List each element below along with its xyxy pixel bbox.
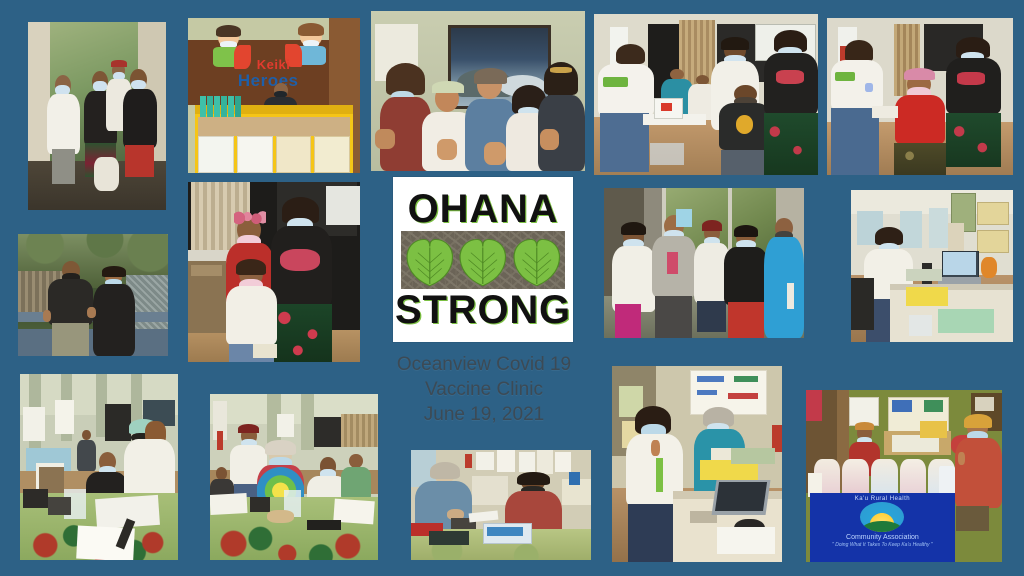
photo-scene <box>612 366 782 562</box>
photo-tiedye-checkin[interactable] <box>210 394 378 560</box>
photo-two-staff-laptop[interactable] <box>612 366 782 562</box>
photo-clinic-vaccination-station[interactable] <box>594 14 818 175</box>
taro-leaf-icon <box>459 237 507 286</box>
photo-scene: Keiki Heroes <box>188 18 360 173</box>
patient <box>894 68 946 175</box>
photo-keiki-heroes-table[interactable]: Keiki Heroes <box>188 18 360 173</box>
keiki-cartoon-right <box>291 26 332 76</box>
photo-kau-rural-health-banner[interactable]: Ka'u Rural Health Community Association … <box>806 390 1002 562</box>
photo-paperwork-green-table[interactable] <box>20 374 178 560</box>
banner-motto: " Doing What It Takes To Keep Ka'u Healt… <box>832 542 933 548</box>
photo-scene <box>594 14 818 175</box>
keiki-cartoon-left <box>209 27 250 77</box>
photo-woman-in-red-vaccinated[interactable] <box>827 18 1013 175</box>
photo-doorway-group[interactable] <box>28 22 166 210</box>
photo-scene <box>18 234 168 356</box>
photo-volunteer-assisting[interactable] <box>411 450 591 560</box>
ohana-strong-logo: OHANA <box>393 177 573 342</box>
collage-caption: Oceanview Covid 19 Vaccine Clinic June 1… <box>373 352 595 427</box>
logo-leaf-band <box>401 231 565 289</box>
photo-scene <box>371 11 585 171</box>
photo-five-women-shaka[interactable] <box>371 11 585 171</box>
sunrise-logo-icon <box>860 502 904 532</box>
photo-scene <box>827 18 1013 175</box>
photo-scene <box>604 188 804 338</box>
caption-line-1: Oceanview Covid 19 <box>373 352 595 377</box>
keiki-sign-line1: Keiki <box>257 57 291 72</box>
photo-collage: Keiki Heroes <box>0 0 1024 576</box>
banner-org-line2: Community Association <box>846 534 919 541</box>
photo-scene <box>851 190 1013 342</box>
kau-rural-health-banner: Ka'u Rural Health Community Association … <box>810 493 955 562</box>
photo-registration-laptop[interactable] <box>851 190 1013 342</box>
food-bags <box>814 459 955 497</box>
photo-scene <box>28 22 166 210</box>
clinic-staff <box>598 46 656 175</box>
photo-couple-outdoors[interactable] <box>18 234 168 356</box>
lei-poo <box>234 211 267 225</box>
photo-three-generations[interactable] <box>188 182 360 362</box>
caption-line-3: June 19, 2021 <box>373 402 595 427</box>
photo-scene <box>20 374 178 560</box>
caption-line-2: Vaccine Clinic <box>373 377 595 402</box>
aloha-shirt-graphic <box>280 249 320 272</box>
logo-word-strong: STRONG <box>395 291 571 329</box>
taro-leaf-icon <box>513 237 561 286</box>
logo-word-ohana: OHANA <box>408 190 559 228</box>
taro-leaf-icon <box>406 237 454 286</box>
photo-mens-group[interactable] <box>604 188 804 338</box>
photo-scene <box>210 394 378 560</box>
photo-scene: Ka'u Rural Health Community Association … <box>806 390 1002 562</box>
photo-scene <box>411 450 591 560</box>
photo-scene <box>188 182 360 362</box>
